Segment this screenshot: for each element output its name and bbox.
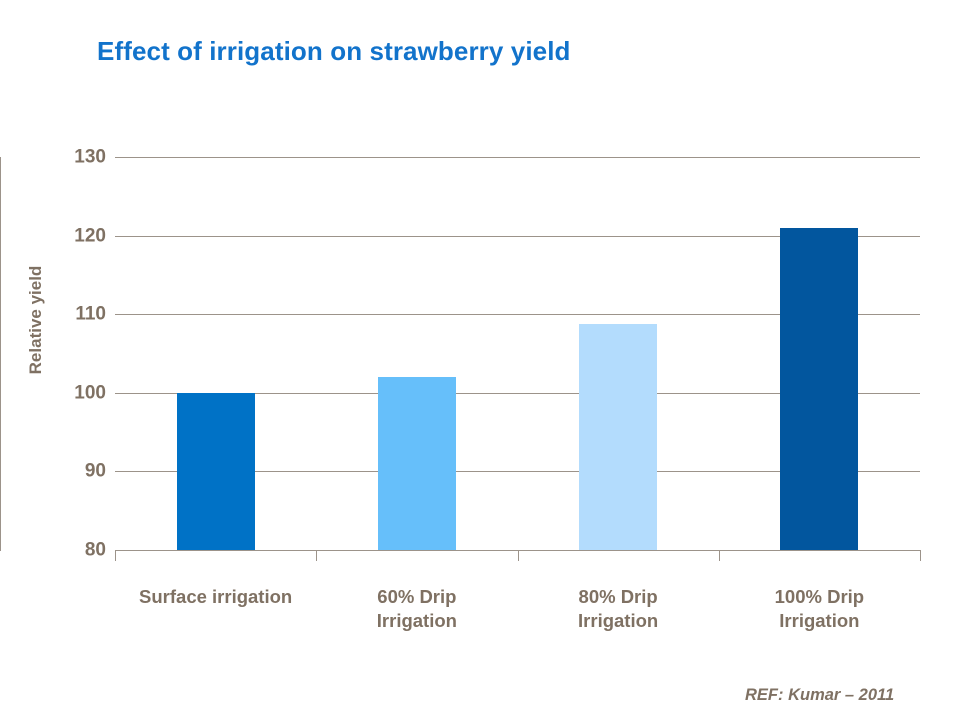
x-tick-label: 60% DripIrrigation	[316, 585, 517, 634]
bar[interactable]	[780, 228, 858, 550]
y-axis-line	[0, 157, 1, 551]
bar[interactable]	[579, 324, 657, 550]
y-tick-label-100: 100	[46, 383, 106, 402]
page-title: Effect of irrigation on strawberry yield	[97, 36, 571, 67]
x-axis-tick	[518, 550, 519, 561]
x-axis-tick	[719, 550, 720, 561]
slide-canvas: Effect of irrigation on strawberry yield…	[0, 0, 960, 720]
bar[interactable]	[378, 377, 456, 550]
y-tick-label-120: 120	[46, 226, 106, 245]
y-tick-label-130: 130	[46, 148, 106, 167]
x-tick-label-line: 80% Drip	[518, 585, 719, 609]
x-tick-label-line: Irrigation	[719, 609, 920, 633]
y-tick-label-90: 90	[46, 462, 106, 481]
y-axis-tick-labels: 1301201101009080	[42, 157, 106, 550]
x-tick-label: Surface irrigation	[115, 585, 316, 609]
x-tick-label-line: Irrigation	[518, 609, 719, 633]
x-axis-tick	[115, 550, 116, 561]
y-tick-label-110: 110	[46, 305, 106, 324]
bar[interactable]	[177, 393, 255, 550]
x-tick-label-line: Irrigation	[316, 609, 517, 633]
x-axis-tick-labels: Surface irrigation60% DripIrrigation80% …	[115, 585, 920, 655]
reference-citation: REF: Kumar – 2011	[745, 686, 894, 705]
x-axis-tick	[920, 550, 921, 561]
x-tick-label-line: 100% Drip	[719, 585, 920, 609]
x-tick-label: 80% DripIrrigation	[518, 585, 719, 634]
x-tick-label: 100% DripIrrigation	[719, 585, 920, 634]
gridline-130	[115, 157, 920, 158]
bar-chart: Relative yield 1301201101009080 Surface …	[0, 130, 960, 640]
x-tick-label-line: Surface irrigation	[115, 585, 316, 609]
x-tick-label-line: 60% Drip	[316, 585, 517, 609]
plot-area	[115, 157, 920, 550]
x-axis-tick	[316, 550, 317, 561]
y-tick-label-80: 80	[46, 541, 106, 560]
